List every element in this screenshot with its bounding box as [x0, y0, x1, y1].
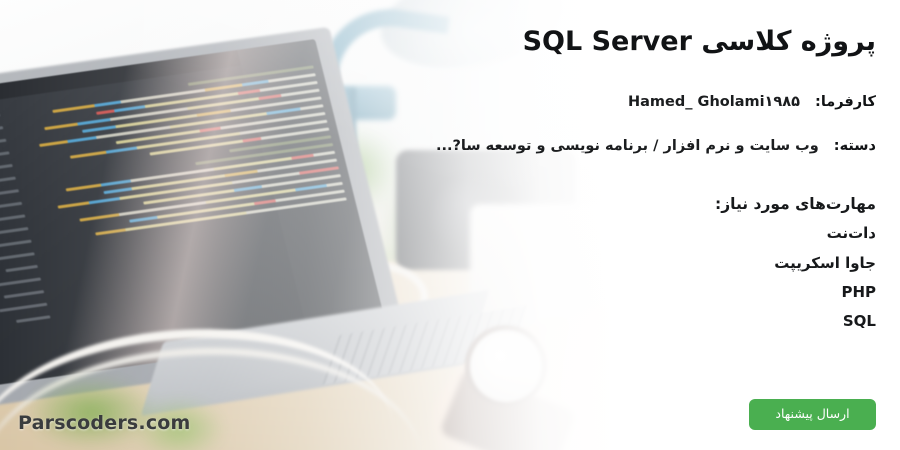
category-row: دسته: وب سایت و نرم افزار / برنامه نویسی…	[176, 136, 876, 158]
project-banner: پروژه کلاسی SQL Server کارفرما: Hamed_ G…	[0, 0, 900, 450]
project-info-panel: پروژه کلاسی SQL Server کارفرما: Hamed_ G…	[176, 0, 876, 450]
submit-proposal-button[interactable]: ارسال پیشنهاد	[749, 399, 876, 430]
employer-label: کارفرما:	[815, 94, 876, 110]
employer-row: کارفرما: Hamed_ Gholami۱۹۸۵	[176, 92, 876, 114]
skill-item[interactable]: PHP	[176, 278, 876, 307]
page-title: پروژه کلاسی SQL Server	[176, 24, 876, 59]
category-label: دسته:	[834, 138, 876, 154]
skills-label: مهارت‌های مورد نیاز:	[176, 190, 876, 219]
site-watermark: Parscoders.com	[18, 412, 191, 434]
skills-section: مهارت‌های مورد نیاز: دات‌نت جاوا اسکریپت…	[176, 190, 876, 336]
skill-item[interactable]: دات‌نت	[176, 219, 876, 248]
skill-item[interactable]: SQL	[176, 307, 876, 336]
employer-name[interactable]: Hamed_ Gholami۱۹۸۵	[628, 94, 800, 110]
cta-container: ارسال پیشنهاد	[749, 399, 876, 430]
category-value[interactable]: وب سایت و نرم افزار / برنامه نویسی و توس…	[436, 138, 819, 154]
skill-item[interactable]: جاوا اسکریپت	[176, 249, 876, 278]
